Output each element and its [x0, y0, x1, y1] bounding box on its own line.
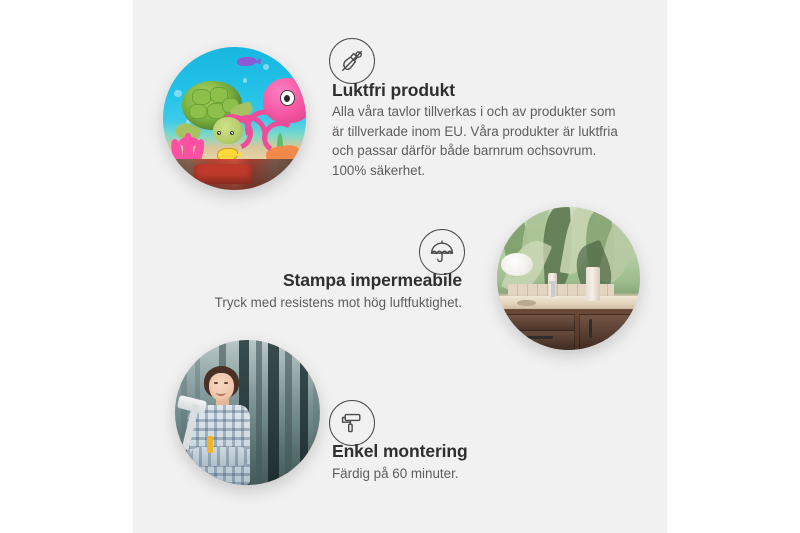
feature-image-easy-install: [175, 340, 320, 485]
forest-wallpaper-art: [175, 340, 320, 485]
no-fragrance-icon: [329, 38, 375, 84]
feature-body-waterproof: Tryck med resistens mot hög luftfuktighe…: [162, 293, 462, 313]
feature-title-odourless: Luktfri produkt: [332, 80, 455, 101]
feature-body-odourless: Alla våra tavlor tillverkas i och av pro…: [332, 102, 629, 180]
blended-photo-strip: [163, 159, 306, 190]
content-panel: Luktfri produkt Alla våra tavlor tillver…: [133, 0, 667, 533]
underwater-cartoon-art: [163, 47, 306, 190]
feature-image-waterproof: [497, 207, 640, 350]
infographic-canvas: Luktfri produkt Alla våra tavlor tillver…: [0, 0, 800, 533]
bathroom-tropical-art: [497, 207, 640, 350]
feature-title-waterproof: Stampa impermeabile: [162, 270, 462, 291]
umbrella-icon: [419, 229, 465, 275]
feature-title-easy-install: Enkel montering: [332, 441, 468, 462]
vanity-cabinet: [497, 309, 640, 350]
paint-roller-icon: [329, 400, 375, 446]
feature-body-easy-install: Färdig på 60 minuter.: [332, 464, 629, 484]
feature-image-odourless: [163, 47, 306, 190]
